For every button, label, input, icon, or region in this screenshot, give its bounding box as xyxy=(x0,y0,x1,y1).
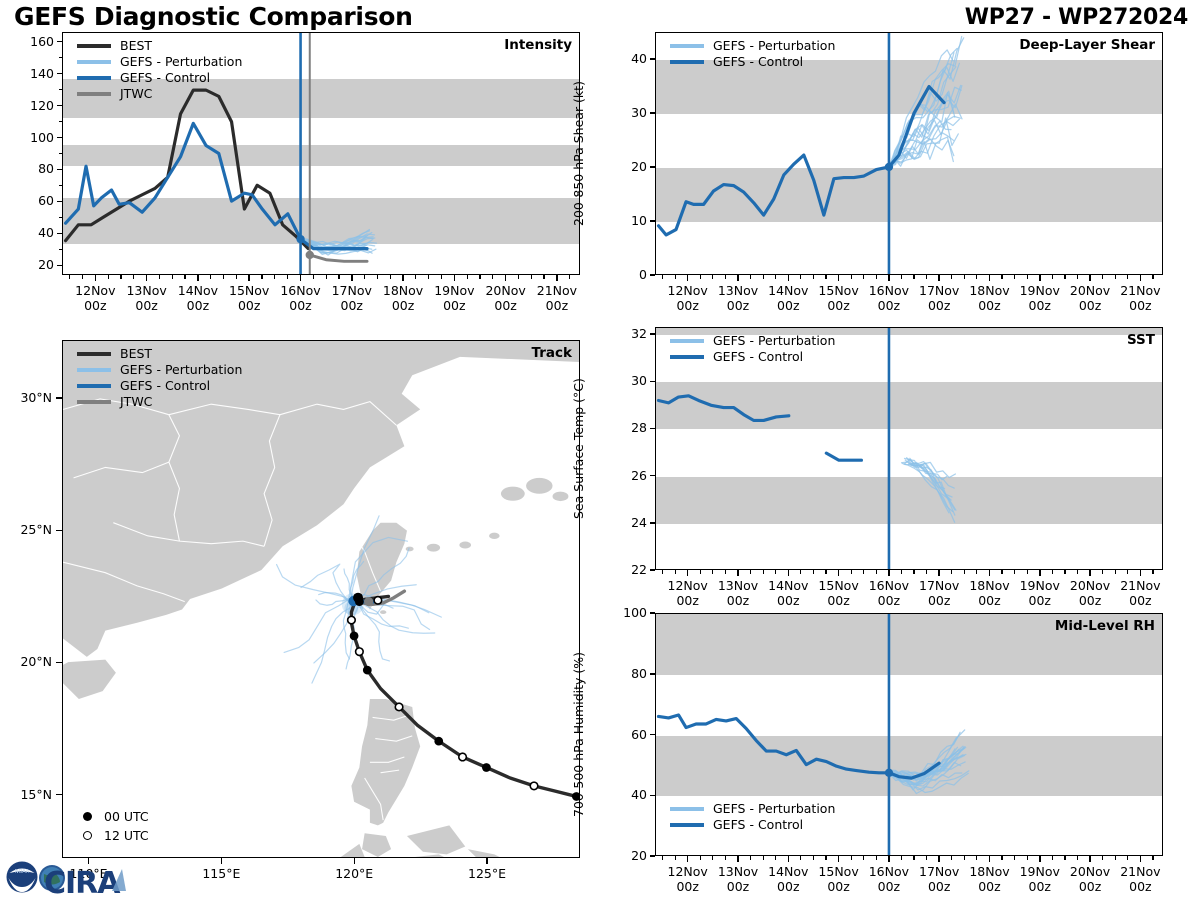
best-marker-00utc-1 xyxy=(482,763,491,772)
x-minor-tick xyxy=(876,570,877,574)
best-marker-00utc-2 xyxy=(434,737,443,746)
x-minor-tick xyxy=(1027,275,1028,279)
x-tickmark xyxy=(1140,275,1142,281)
y-tick-label: 40 xyxy=(599,51,647,66)
x-tickmark xyxy=(838,570,840,576)
x-minor-tick xyxy=(1152,275,1153,279)
x-minor-tick xyxy=(1127,275,1128,279)
x-minor-tick xyxy=(976,275,977,279)
y-minor-tick xyxy=(59,57,62,59)
map-y-tick-label: 30°N xyxy=(0,390,52,405)
figure-root: GEFS Diagnostic Comparison WP27 - WP2720… xyxy=(0,0,1200,900)
x-tickmark xyxy=(1039,856,1041,862)
best-marker-12utc-4 xyxy=(348,616,356,624)
y-minor-tick xyxy=(59,153,62,155)
x-minor-tick xyxy=(913,856,914,860)
panel-title-intensity: Intensity xyxy=(504,37,572,53)
x-minor-tick xyxy=(1127,570,1128,574)
x-minor-tick xyxy=(338,275,339,279)
legend-label-best: BEST xyxy=(120,38,152,54)
x-minor-tick xyxy=(763,275,764,279)
x-minor-tick xyxy=(675,275,676,279)
y-tick-label: 30 xyxy=(599,105,647,120)
map-y-tick-label: 15°N xyxy=(0,787,52,802)
best-marker-00utc-4 xyxy=(350,631,359,640)
x-minor-tick xyxy=(926,856,927,860)
y-tickmark xyxy=(650,734,655,736)
samar-island xyxy=(468,849,500,857)
x-minor-tick xyxy=(725,570,726,574)
legend-item-perturbation: GEFS - Perturbation xyxy=(670,333,835,349)
x-minor-tick xyxy=(763,570,764,574)
x-minor-tick xyxy=(1064,570,1065,574)
x-tickmark xyxy=(737,856,739,862)
x-minor-tick xyxy=(159,275,160,279)
y-tick-label: 10 xyxy=(599,213,647,228)
x-tickmark xyxy=(737,275,739,281)
legend-swatch-control xyxy=(670,355,704,359)
masbate-island xyxy=(415,854,444,857)
y-tick-label: 24 xyxy=(599,515,647,530)
x-tick-label: 21Nov 00z xyxy=(1106,864,1174,894)
island-speck-4 xyxy=(427,544,440,552)
y-axis-label: Sea Surface Temp (°C) xyxy=(571,378,586,519)
x-tickmark xyxy=(788,856,790,862)
x-tickmark xyxy=(1089,570,1091,576)
legend-swatch-jtwc xyxy=(77,400,111,404)
x-minor-tick xyxy=(700,275,701,279)
x-minor-tick xyxy=(184,275,185,279)
x-tickmark xyxy=(888,570,890,576)
legend-item-control: GEFS - Control xyxy=(77,70,242,86)
x-minor-tick xyxy=(1014,856,1015,860)
x-minor-tick xyxy=(662,570,663,574)
x-minor-tick xyxy=(223,275,224,279)
svg-text:NOAA: NOAA xyxy=(15,869,30,875)
y-tickmark xyxy=(650,166,655,168)
legend-swatch-perturbation xyxy=(77,368,111,372)
border-line-13 xyxy=(391,804,407,809)
legend-item-control: GEFS - Control xyxy=(670,54,835,70)
y-tickmark xyxy=(650,522,655,524)
x-minor-tick xyxy=(964,570,965,574)
legend-label-00utc: 00 UTC xyxy=(104,807,149,826)
x-minor-tick xyxy=(428,275,429,279)
x-minor-tick xyxy=(82,275,83,279)
y-tick-label: 160 xyxy=(6,34,54,49)
y-tick-label: 80 xyxy=(6,161,54,176)
legend-rh: GEFS - Perturbation GEFS - Control xyxy=(670,801,835,833)
x-tick-label: 21Nov 00z xyxy=(1106,283,1174,313)
legend-swatch-control xyxy=(77,384,111,388)
island-speck-6 xyxy=(406,547,414,552)
x-tickmark xyxy=(351,275,353,281)
x-tickmark xyxy=(938,570,940,576)
x-minor-tick xyxy=(775,570,776,574)
x-tickmark xyxy=(402,275,404,281)
y-tickmark xyxy=(57,41,62,43)
legend-label-control: GEFS - Control xyxy=(713,54,803,70)
x-minor-tick xyxy=(1052,570,1053,574)
x-minor-tick xyxy=(377,275,378,279)
x-minor-tick xyxy=(750,275,751,279)
legend-item-best: BEST xyxy=(77,346,242,362)
y-tick-label: 80 xyxy=(599,666,647,681)
y-tickmark xyxy=(650,475,655,477)
x-minor-tick xyxy=(1152,856,1153,860)
y-tickmark xyxy=(57,265,62,267)
legend-label-jtwc: JTWC xyxy=(120,394,152,410)
map-y-tickmark xyxy=(56,662,62,664)
y-tick-label: 40 xyxy=(6,225,54,240)
y-tick-label: 60 xyxy=(6,193,54,208)
map-y-tickmark xyxy=(56,530,62,532)
legend-swatch-best xyxy=(77,352,111,357)
x-minor-tick xyxy=(863,570,864,574)
y-tickmark xyxy=(650,612,655,614)
noaa-logo-icon: NOAA xyxy=(7,862,38,893)
x-minor-tick xyxy=(825,856,826,860)
jtwc-current-marker xyxy=(364,597,373,606)
x-minor-tick xyxy=(662,275,663,279)
best-marker-12utc-2 xyxy=(395,703,403,711)
x-minor-tick xyxy=(518,275,519,279)
x-minor-tick xyxy=(876,275,877,279)
control-marker xyxy=(296,235,304,243)
svg-text:CIRA: CIRA xyxy=(44,866,121,899)
map-x-tickmark xyxy=(221,858,223,864)
panel-intensity: Intensity BEST GEFS - Perturbation GEFS … xyxy=(62,32,580,275)
x-minor-tick xyxy=(1115,275,1116,279)
legend-sst: GEFS - Perturbation GEFS - Control xyxy=(670,333,835,365)
y-tickmark xyxy=(650,569,655,571)
island-speck-7 xyxy=(380,610,386,614)
x-tickmark xyxy=(888,275,890,281)
legend-item-perturbation: GEFS - Perturbation xyxy=(77,54,242,70)
legend-item-perturbation: GEFS - Perturbation xyxy=(670,38,835,54)
legend-item-control: GEFS - Control xyxy=(670,349,835,365)
panel-shear: Deep-Layer Shear GEFS - Perturbation GEF… xyxy=(655,32,1163,275)
x-tickmark xyxy=(505,275,507,281)
legend-label-perturbation: GEFS - Perturbation xyxy=(713,333,835,349)
x-minor-tick xyxy=(825,275,826,279)
x-tickmark xyxy=(1089,856,1091,862)
x-minor-tick xyxy=(1052,856,1053,860)
jtwc-marker xyxy=(306,251,314,259)
x-minor-tick xyxy=(750,856,751,860)
x-minor-tick xyxy=(1077,275,1078,279)
x-minor-tick xyxy=(851,275,852,279)
x-minor-tick xyxy=(133,275,134,279)
legend-swatch-control xyxy=(77,76,111,80)
storm-identifier: WP27 - WP272024 xyxy=(965,5,1188,30)
x-minor-tick xyxy=(964,856,965,860)
y-tickmark xyxy=(650,381,655,383)
legend-label-perturbation: GEFS - Perturbation xyxy=(120,362,242,378)
x-minor-tick xyxy=(964,275,965,279)
y-tick-label: 30 xyxy=(599,373,647,388)
x-minor-tick xyxy=(1001,856,1002,860)
perturbation-line xyxy=(889,87,961,169)
x-minor-tick xyxy=(712,570,713,574)
legend-swatch-control xyxy=(670,823,704,827)
landmass-layer xyxy=(63,341,579,857)
best-marker-12utc-1 xyxy=(459,753,467,761)
x-minor-tick xyxy=(1064,856,1065,860)
y-tick-label: 20 xyxy=(599,159,647,174)
legend-label-control: GEFS - Control xyxy=(713,349,803,365)
x-tickmark xyxy=(687,570,689,576)
y-tick-label: 20 xyxy=(6,257,54,272)
series-control-0 xyxy=(658,87,944,235)
x-minor-tick xyxy=(825,570,826,574)
x-minor-tick xyxy=(1077,856,1078,860)
x-minor-tick xyxy=(1077,570,1078,574)
x-minor-tick xyxy=(725,275,726,279)
y-tick-label: 0 xyxy=(599,267,647,282)
x-minor-tick xyxy=(1102,275,1103,279)
y-tick-label: 20 xyxy=(599,848,647,863)
x-minor-tick xyxy=(951,275,952,279)
x-minor-tick xyxy=(851,856,852,860)
x-minor-tick xyxy=(1001,570,1002,574)
legend-item-jtwc: JTWC xyxy=(77,394,242,410)
x-tickmark xyxy=(197,275,199,281)
y-tick-label: 26 xyxy=(599,468,647,483)
y-minor-tick xyxy=(59,185,62,187)
island-speck-1 xyxy=(526,478,552,494)
x-tickmark xyxy=(938,856,940,862)
x-tickmark xyxy=(989,856,991,862)
island-speck-2 xyxy=(553,492,569,501)
y-tick-label: 100 xyxy=(599,605,647,620)
filled-circle-icon xyxy=(83,812,92,821)
series-best xyxy=(66,90,309,248)
x-minor-tick xyxy=(662,856,663,860)
x-minor-tick xyxy=(712,275,713,279)
x-minor-tick xyxy=(1102,570,1103,574)
perturbation-ensemble xyxy=(902,458,956,522)
x-minor-tick xyxy=(700,570,701,574)
x-minor-tick xyxy=(813,275,814,279)
legend-swatch-perturbation xyxy=(670,807,704,811)
y-minor-tick xyxy=(59,121,62,123)
x-minor-tick xyxy=(913,275,914,279)
y-tickmark xyxy=(57,73,62,75)
map-x-tickmark xyxy=(354,858,356,864)
best-marker-12utc-0 xyxy=(530,782,538,790)
x-minor-tick xyxy=(441,275,442,279)
y-tickmark xyxy=(650,220,655,222)
x-minor-tick xyxy=(172,275,173,279)
y-tick-label: 28 xyxy=(599,420,647,435)
x-minor-tick xyxy=(1052,275,1053,279)
x-minor-tick xyxy=(901,570,902,574)
perturbation-track xyxy=(277,565,355,605)
panel-track: Track BEST GEFS - Perturbation GEFS - Co… xyxy=(62,340,580,858)
legend-label-perturbation: GEFS - Perturbation xyxy=(713,801,835,817)
y-tickmark xyxy=(650,333,655,335)
map-x-tick-label: 125°E xyxy=(447,866,527,881)
y-tick-label: 140 xyxy=(6,66,54,81)
panel-title-rh: Mid-Level RH xyxy=(1055,618,1155,634)
open-circle-icon xyxy=(83,831,92,840)
x-minor-tick xyxy=(415,275,416,279)
x-minor-tick xyxy=(274,275,275,279)
island-speck-0 xyxy=(501,487,525,501)
legend-swatch-control xyxy=(670,60,704,64)
control-marker xyxy=(885,163,893,171)
x-minor-tick xyxy=(775,275,776,279)
map-x-tickmark xyxy=(486,858,488,864)
x-minor-tick xyxy=(976,856,977,860)
x-minor-tick xyxy=(326,275,327,279)
x-minor-tick xyxy=(313,275,314,279)
best-marker-00utc-3 xyxy=(363,666,372,675)
panel-rh: Mid-Level RH GEFS - Perturbation GEFS - … xyxy=(655,613,1163,856)
x-minor-tick xyxy=(951,856,952,860)
x-tickmark xyxy=(989,275,991,281)
island-speck-3 xyxy=(459,542,471,549)
x-minor-tick xyxy=(1027,856,1028,860)
map-y-tick-label: 20°N xyxy=(0,654,52,669)
x-tickmark xyxy=(248,275,250,281)
series-control-0 xyxy=(658,396,788,421)
series-control-0 xyxy=(658,715,939,778)
x-tickmark xyxy=(1140,570,1142,576)
y-tick-label: 120 xyxy=(6,98,54,113)
x-tickmark xyxy=(737,570,739,576)
x-minor-tick xyxy=(1001,275,1002,279)
map-y-tick-label: 25°N xyxy=(0,522,52,537)
x-tickmark xyxy=(788,570,790,576)
legend-label-control: GEFS - Control xyxy=(120,378,210,394)
y-tickmark xyxy=(57,137,62,139)
x-minor-tick xyxy=(569,275,570,279)
x-tickmark xyxy=(938,275,940,281)
x-tickmark xyxy=(146,275,148,281)
series-control-1 xyxy=(826,453,861,460)
best-marker-12utc-5 xyxy=(374,597,382,605)
x-tickmark xyxy=(300,275,302,281)
legend-item-00utc: 00 UTC xyxy=(77,807,149,826)
x-minor-tick xyxy=(725,856,726,860)
map-x-tick-label: 115°E xyxy=(181,866,261,881)
x-minor-tick xyxy=(926,275,927,279)
x-minor-tick xyxy=(926,570,927,574)
x-minor-tick xyxy=(120,275,121,279)
mindoro-island xyxy=(362,833,391,857)
x-tickmark xyxy=(556,275,558,281)
y-tickmark xyxy=(650,428,655,430)
y-tickmark xyxy=(650,855,655,857)
x-minor-tick xyxy=(800,275,801,279)
x-minor-tick xyxy=(543,275,544,279)
x-minor-tick xyxy=(1064,275,1065,279)
panel-title-sst: SST xyxy=(1127,332,1155,348)
cira-wordmark: CIRA xyxy=(39,865,126,899)
panel-title-track: Track xyxy=(532,345,572,361)
x-tickmark xyxy=(888,856,890,862)
perturbation-ensemble xyxy=(301,230,377,255)
x-minor-tick xyxy=(851,570,852,574)
noaa-cira-logo: NOAA CIRA xyxy=(4,857,144,899)
x-tickmark xyxy=(687,275,689,281)
legend-intensity: BEST GEFS - Perturbation GEFS - Control … xyxy=(77,38,242,102)
palawan-tip xyxy=(341,844,365,857)
x-minor-tick xyxy=(287,275,288,279)
x-tickmark xyxy=(1140,856,1142,862)
best-marker-12utc-3 xyxy=(356,648,364,656)
legend-item-jtwc: JTWC xyxy=(77,86,242,102)
x-tickmark xyxy=(1039,570,1041,576)
x-minor-tick xyxy=(1115,570,1116,574)
x-tickmark xyxy=(788,275,790,281)
y-tickmark xyxy=(650,58,655,60)
island-speck-5 xyxy=(489,533,500,539)
x-minor-tick xyxy=(479,275,480,279)
legend-item-12utc: 12 UTC xyxy=(77,826,149,845)
legend-label-12utc: 12 UTC xyxy=(104,826,149,845)
y-tickmark xyxy=(57,233,62,235)
x-minor-tick xyxy=(913,570,914,574)
map-y-tickmark xyxy=(56,397,62,399)
y-minor-tick xyxy=(59,249,62,251)
x-minor-tick xyxy=(863,275,864,279)
y-axis-label: 200-850 hPa Shear (kt) xyxy=(571,81,586,226)
x-minor-tick xyxy=(876,856,877,860)
x-minor-tick xyxy=(976,570,977,574)
x-minor-tick xyxy=(863,856,864,860)
x-tickmark xyxy=(838,275,840,281)
legend-swatch-perturbation xyxy=(77,60,111,64)
x-minor-tick xyxy=(69,275,70,279)
x-minor-tick xyxy=(1014,570,1015,574)
x-minor-tick xyxy=(675,570,676,574)
legend-label-perturbation: GEFS - Perturbation xyxy=(713,38,835,54)
y-tick-label: 32 xyxy=(599,326,647,341)
x-tickmark xyxy=(1089,275,1091,281)
x-minor-tick xyxy=(763,856,764,860)
x-tickmark xyxy=(838,856,840,862)
x-minor-tick xyxy=(492,275,493,279)
legend-label-jtwc: JTWC xyxy=(120,86,152,102)
legend-item-control: GEFS - Control xyxy=(670,817,835,833)
control-marker xyxy=(885,769,893,777)
x-minor-tick xyxy=(390,275,391,279)
legend-swatch-best xyxy=(77,44,111,49)
legend-swatch-perturbation xyxy=(670,339,704,343)
x-minor-tick xyxy=(1152,570,1153,574)
series-jtwc xyxy=(310,255,367,261)
legend-swatch-jtwc xyxy=(77,92,111,96)
x-minor-tick xyxy=(1102,856,1103,860)
legend-item-perturbation: GEFS - Perturbation xyxy=(670,801,835,817)
x-tick-label: 21Nov 00z xyxy=(1106,578,1174,608)
x-tickmark xyxy=(95,275,97,281)
x-minor-tick xyxy=(813,570,814,574)
x-minor-tick xyxy=(364,275,365,279)
y-minor-tick xyxy=(59,217,62,219)
y-tickmark xyxy=(650,112,655,114)
x-minor-tick xyxy=(1027,570,1028,574)
best-current-marker xyxy=(353,593,363,603)
y-tickmark xyxy=(650,673,655,675)
legend-shear: GEFS - Perturbation GEFS - Control xyxy=(670,38,835,70)
x-minor-tick xyxy=(800,856,801,860)
legend-label-control: GEFS - Control xyxy=(713,817,803,833)
x-minor-tick xyxy=(775,856,776,860)
